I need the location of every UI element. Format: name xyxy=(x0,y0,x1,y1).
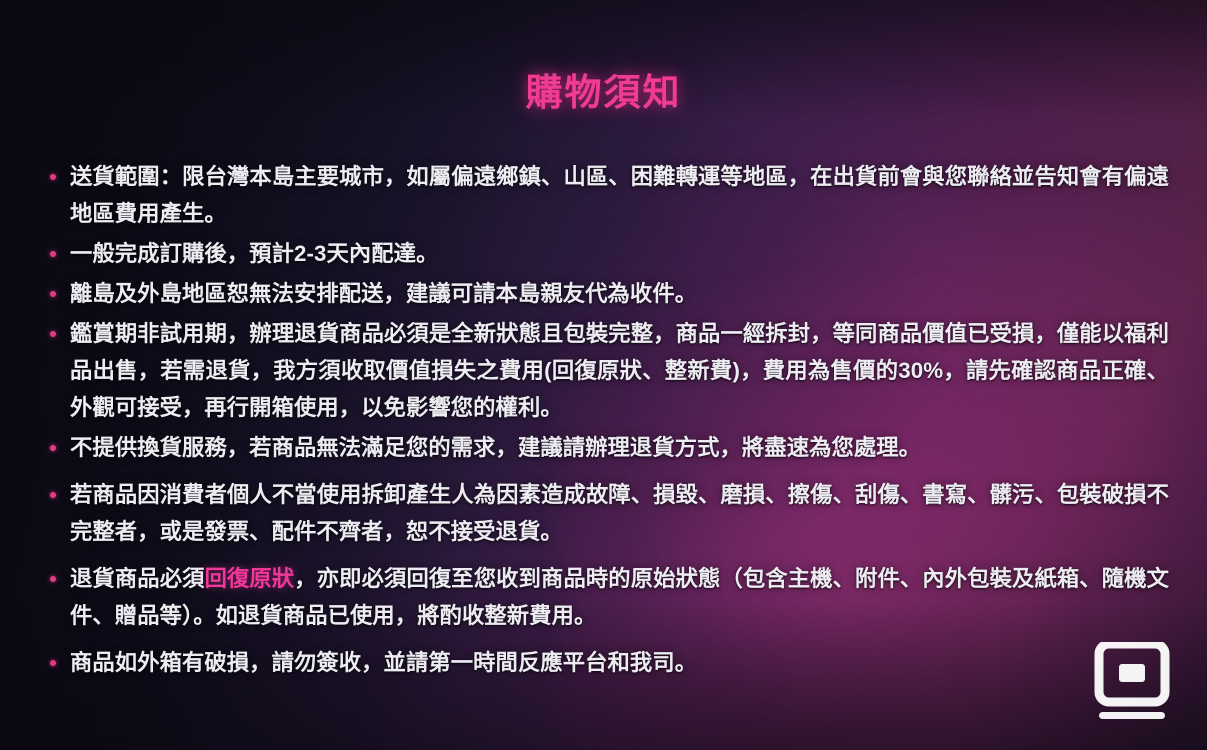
list-item-text: 商品如外箱有破損，請勿簽收，並請第一時間反應平台和我司。 xyxy=(70,650,697,675)
list-item-damaged-carton: 商品如外箱有破損，請勿簽收，並請第一時間反應平台和我司。 xyxy=(44,644,1169,681)
list-item-text: 離島及外島地區恕無法安排配送，建議可請本島親友代為收件。 xyxy=(70,281,697,306)
slide-root: 購物須知 送貨範圍：限台灣本島主要城市，如屬偏遠鄉鎮、山區、困難轉運等地區，在出… xyxy=(0,0,1207,750)
list-item-text: 送貨範圍：限台灣本島主要城市，如屬偏遠鄉鎮、山區、困難轉運等地區，在出貨前會與您… xyxy=(70,164,1169,226)
bullet-dot-icon xyxy=(50,291,56,297)
list-item-text-part-1: 退貨商品必須 xyxy=(70,566,205,591)
list-item-text: 不提供換貨服務，若商品無法滿足您的需求，建議請辦理退貨方式，將盡速為您處理。 xyxy=(70,435,921,460)
bullet-dot-icon xyxy=(50,445,56,451)
bullet-dot-icon xyxy=(50,251,56,257)
slide-content: 購物須知 送貨範圍：限台灣本島主要城市，如屬偏遠鄉鎮、山區、困難轉運等地區，在出… xyxy=(0,0,1207,750)
list-item-no-exchange: 不提供換貨服務，若商品無法滿足您的需求，建議請辦理退貨方式，將盡速為您處理。 xyxy=(44,429,1169,466)
highlighted-term: 回復原狀 xyxy=(205,566,295,591)
list-item-text: 鑑賞期非試用期，辦理退貨商品必須是全新狀態且包裝完整，商品一經拆封，等同商品價值… xyxy=(70,321,1169,420)
list-item-inspection-period: 鑑賞期非試用期，辦理退貨商品必須是全新狀態且包裝完整，商品一經拆封，等同商品價值… xyxy=(44,315,1169,426)
bullet-dot-icon xyxy=(50,660,56,666)
list-item-restore-original: 退貨商品必須回復原狀，亦即必須回復至您收到商品時的原始狀態（包含主機、附件、內外… xyxy=(44,560,1169,634)
list-item-text: 一般完成訂購後，預計2-3天內配達。 xyxy=(70,241,438,266)
page-title: 購物須知 xyxy=(0,62,1207,116)
bullet-dot-icon xyxy=(50,331,56,337)
list-item-delivery-range: 送貨範圍：限台灣本島主要城市，如屬偏遠鄉鎮、山區、困難轉運等地區，在出貨前會與您… xyxy=(44,158,1169,232)
list-item-improper-use: 若商品因消費者個人不當使用拆卸產生人為因素造成故障、損毀、磨損、擦傷、刮傷、書寫… xyxy=(44,476,1169,550)
bullet-dot-icon xyxy=(50,492,56,498)
list-item-delivery-time: 一般完成訂購後，預計2-3天內配達。 xyxy=(44,235,1169,272)
brand-logo-icon xyxy=(1093,642,1171,724)
list-item-outlying-islands: 離島及外島地區恕無法安排配送，建議可請本島親友代為收件。 xyxy=(44,275,1169,312)
list-item-text: 若商品因消費者個人不當使用拆卸產生人為因素造成故障、損毀、磨損、擦傷、刮傷、書寫… xyxy=(70,482,1169,544)
notice-list: 送貨範圍：限台灣本島主要城市，如屬偏遠鄉鎮、山區、困難轉運等地區，在出貨前會與您… xyxy=(44,158,1169,684)
bullet-dot-icon xyxy=(50,576,56,582)
bullet-dot-icon xyxy=(50,174,56,180)
